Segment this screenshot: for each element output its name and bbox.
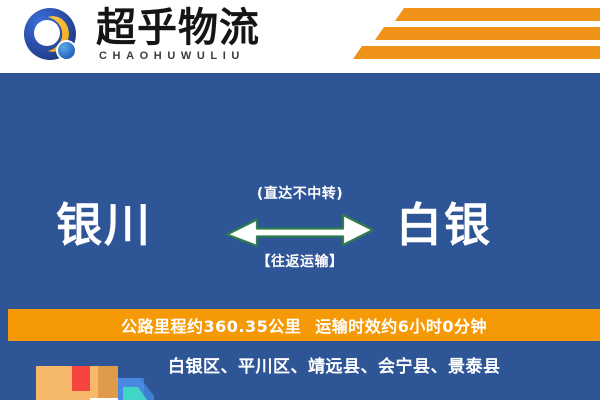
- header-bar: 超乎物流 CHAOHUWULIU: [0, 0, 600, 73]
- bidirectional-arrow-icon: [225, 209, 375, 249]
- header-stripes-decoration: [340, 6, 600, 68]
- logo-dot: [56, 40, 77, 61]
- brand-name-en: CHAOHUWULIU: [99, 50, 245, 62]
- duration-text: 运输时效约6小时0分钟: [315, 313, 487, 337]
- distance-text: 公路里程约360.35公里: [121, 313, 301, 337]
- destination-city-label: 白银: [396, 199, 492, 251]
- origin-city-label: 银川: [56, 199, 152, 251]
- coverage-regions-text: 白银区、平川区、靖远县、会宁县、景泰县: [168, 352, 501, 377]
- route-arrow-group: (直达不中转) 【往返运输】: [218, 185, 382, 271]
- direct-service-note: (直达不中转): [218, 185, 382, 203]
- stripe-1: [395, 8, 600, 21]
- route-info-bar: 公路里程约360.35公里 运输时效约6小时0分钟: [8, 309, 600, 341]
- round-trip-note: 【往返运输】: [218, 253, 382, 271]
- main-panel: 银川 白银 (直达不中转) 【往返运输】 公路里程约360.35公里 运输时效约…: [0, 73, 600, 400]
- logistics-route-poster: 超乎物流 CHAOHUWULIU 银川 白银 (直达不中转) 【往返运输】 公路…: [0, 0, 600, 400]
- delivery-truck-icon: [28, 354, 168, 400]
- stripe-3: [353, 46, 600, 59]
- stripe-2: [375, 27, 600, 40]
- brand-name-cn: 超乎物流: [96, 6, 260, 50]
- company-logo-icon: [24, 8, 86, 66]
